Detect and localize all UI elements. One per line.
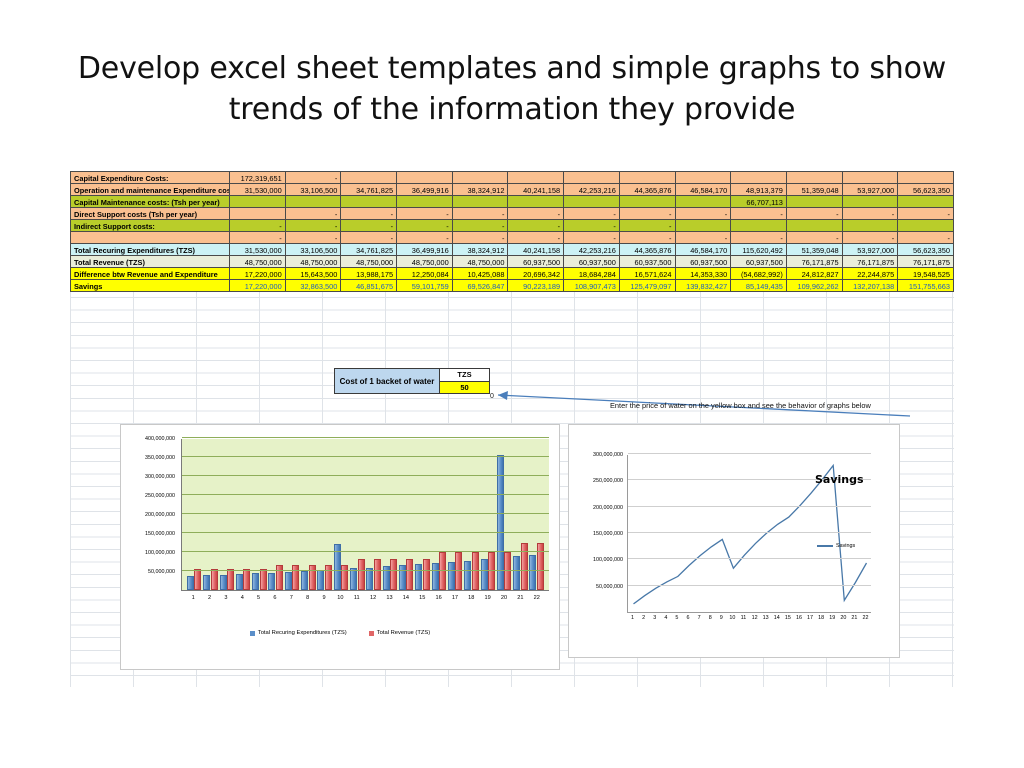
cost-of-water-box[interactable]: Cost of 1 backet of water TZS 50 [334,368,490,394]
legend-item[interactable]: Total Revenue (TZS) [369,630,430,636]
bar-expenditure[interactable] [513,556,520,590]
table-cell[interactable]: - [285,172,341,184]
table-row[interactable]: Total Recuring Expenditures (TZS)31,530,… [71,244,954,256]
row-label: Total Revenue (TZS) [71,256,230,268]
x-axis-tick-label: 14 [398,595,414,601]
bar-expenditure[interactable] [252,573,259,590]
row-label: Difference btw Revenue and Expenditure [71,268,230,280]
table-row[interactable]: Difference btw Revenue and Expenditure17… [71,268,954,280]
table-cell[interactable] [786,196,842,208]
table-cell[interactable] [564,172,620,184]
table-cell[interactable]: 48,750,000 [285,256,341,268]
gridline [182,551,549,552]
x-axis-tick-label: 12 [365,595,381,601]
table-cell[interactable]: - [564,208,620,220]
x-axis-tick-label: 1 [627,615,638,621]
table-cell[interactable]: 48,750,000 [452,256,508,268]
bar-group[interactable] [186,439,202,590]
table-cell[interactable]: 16,571,624 [619,268,675,280]
table-cell[interactable]: - [619,220,675,232]
bar-group[interactable] [447,439,463,590]
x-axis-tick-label: 7 [283,595,299,601]
table-cell[interactable]: 48,750,000 [230,256,286,268]
x-axis-tick-label: 5 [250,595,266,601]
bar-expenditure[interactable] [529,555,536,590]
table-cell[interactable] [397,172,453,184]
table-cell[interactable]: 42,253,216 [564,184,620,196]
legend-line-swatch [817,545,833,547]
bar-group[interactable] [398,439,414,590]
table-cell[interactable]: 53,927,000 [842,244,898,256]
x-axis-tick-label: 2 [638,615,649,621]
y-axis-tick-label: 350,000,000 [145,455,175,461]
table-cell[interactable]: 115,620,492 [731,244,787,256]
table-cell[interactable]: 60,937,500 [675,256,731,268]
x-axis-tick-label: 9 [316,595,332,601]
bar-group[interactable] [333,439,349,590]
x-axis-tick-label: 6 [267,595,283,601]
legend-label: Total Revenue (TZS) [377,630,430,636]
y-axis-tick-label: 200,000,000 [593,505,623,511]
savings-line-chart[interactable]: 50,000,000100,000,000150,000,000200,000,… [568,424,900,658]
table-cell[interactable] [619,172,675,184]
table-cell[interactable]: - [285,232,341,244]
table-cell[interactable]: 44,365,876 [619,184,675,196]
x-axis-tick-label: 21 [512,595,528,601]
bar-group[interactable] [317,439,333,590]
table-cell[interactable] [842,220,898,232]
table-cell[interactable]: 48,750,000 [341,256,397,268]
y-axis-tick-label: 150,000,000 [145,531,175,537]
bar-group[interactable] [496,439,512,590]
legend-label-savings: Savings [836,543,855,549]
bar-revenue[interactable] [227,569,234,590]
x-axis-tick-label: 7 [694,615,705,621]
x-axis-tick-label: 10 [332,595,348,601]
spreadsheet-canvas[interactable]: Capital Expenditure Costs:172,319,651-Op… [70,171,954,687]
x-axis-tick-label: 15 [414,595,430,601]
bar-expenditure[interactable] [187,576,194,590]
legend-swatch [250,631,255,636]
x-axis-tick-label: 4 [660,615,671,621]
x-axis-tick-label: 14 [771,615,782,621]
table-cell[interactable] [508,172,564,184]
table-cell[interactable]: - [397,220,453,232]
gridline [182,494,549,495]
table-cell[interactable]: 139,832,427 [675,280,731,292]
gridline [182,437,549,438]
table-cell[interactable] [397,196,453,208]
bar-group[interactable] [268,439,284,590]
table-row[interactable]: Direct Support costs (Tsh per year)-----… [71,208,954,220]
table-cell[interactable]: 60,937,500 [731,256,787,268]
x-axis-tick-label: 5 [671,615,682,621]
table-cell[interactable]: 48,750,000 [397,256,453,268]
table-cell[interactable] [675,220,731,232]
bar-revenue[interactable] [243,569,250,590]
bar-revenue[interactable] [309,565,316,590]
bar-chart-y-axis: 50,000,000100,000,000150,000,000200,000,… [121,433,177,593]
table-cell[interactable]: 18,684,284 [564,268,620,280]
table-cell[interactable]: - [508,220,564,232]
table-cell[interactable]: 56,623,350 [898,184,954,196]
bar-expenditure[interactable] [203,575,210,590]
bar-expenditure[interactable] [285,572,292,590]
bar-expenditure[interactable] [432,563,439,590]
x-axis-tick-label: 13 [381,595,397,601]
table-cell[interactable] [842,172,898,184]
x-axis-tick-label: 17 [447,595,463,601]
x-axis-tick-label: 1 [185,595,201,601]
table-row[interactable]: Operation and maintenance Expenditure co… [71,184,954,196]
table-row[interactable]: Savings17,220,00032,863,50046,851,67559,… [71,280,954,292]
x-axis-tick-label: 18 [816,615,827,621]
bar-expenditure[interactable] [301,571,308,590]
x-axis-tick-label: 19 [479,595,495,601]
table-cell[interactable]: - [731,232,787,244]
bar-group[interactable] [349,439,365,590]
table-cell[interactable]: 44,365,876 [619,244,675,256]
y-axis-tick-label: 300,000,000 [145,474,175,480]
table-cell[interactable] [842,196,898,208]
y-axis-tick-label: 250,000,000 [145,493,175,499]
x-axis-tick-label: 20 [496,595,512,601]
table-cell[interactable]: 33,106,500 [285,244,341,256]
table-cell[interactable]: 66,707,113 [731,196,787,208]
savings-annotation: Savings [815,473,864,486]
legend-swatch [369,631,374,636]
table-cell[interactable]: 76,171,875 [786,256,842,268]
bar-group[interactable] [431,439,447,590]
bar-expenditure[interactable] [448,562,455,590]
table-cell[interactable]: - [230,232,286,244]
table-row[interactable]: Indirect Support costs:-------- [71,220,954,232]
y-axis-tick-label: 400,000,000 [145,436,175,442]
x-axis-tick-label: 11 [349,595,365,601]
x-axis-tick-label: 4 [234,595,250,601]
table-cell[interactable] [564,196,620,208]
table-cell[interactable] [898,172,954,184]
bar-revenue[interactable] [537,543,544,590]
table-cell[interactable] [230,208,286,220]
table-cell[interactable] [786,220,842,232]
table-cell[interactable] [452,196,508,208]
currency-label: TZS [440,369,489,381]
bar-chart[interactable]: 50,000,000100,000,000150,000,000200,000,… [120,424,560,670]
cost-of-water-label: Cost of 1 backet of water [335,369,440,393]
bar-revenue[interactable] [341,565,348,590]
table-cell[interactable]: 34,761,825 [341,184,397,196]
x-axis-tick-label: 21 [849,615,860,621]
bar-revenue[interactable] [358,559,365,590]
gridline [628,532,871,533]
x-axis-tick-label: 9 [716,615,727,621]
bar-group[interactable] [414,439,430,590]
gridline [628,558,871,559]
bar-expenditure[interactable] [236,574,243,590]
bar-chart-plot-area [181,439,549,591]
table-cell[interactable] [898,196,954,208]
bar-chart-x-axis: 12345678910111213141516171819202122 [181,595,549,601]
x-axis-tick-label: 6 [682,615,693,621]
table-cell[interactable]: 12,250,084 [397,268,453,280]
bar-revenue[interactable] [194,569,201,590]
table-cell[interactable]: 32,863,500 [285,280,341,292]
bar-group[interactable] [480,439,496,590]
row-label: Operation and maintenance Expenditure co… [71,184,230,196]
x-axis-tick-label: 16 [430,595,446,601]
table-cell[interactable]: 109,962,262 [786,280,842,292]
table-cell[interactable]: 20,696,342 [508,268,564,280]
table-cell[interactable]: - [452,220,508,232]
bar-group[interactable] [463,439,479,590]
x-axis-tick-label: 22 [529,595,545,601]
x-axis-tick-label: 3 [218,595,234,601]
table-cell[interactable]: 40,241,158 [508,244,564,256]
table-cell[interactable]: 132,207,138 [842,280,898,292]
row-label: Capital Expenditure Costs: [71,172,230,184]
table-row[interactable]: ------------- [71,232,954,244]
table-cell[interactable]: - [508,232,564,244]
y-axis-tick-label: 50,000,000 [596,584,623,590]
table-cell[interactable]: 10,425,088 [452,268,508,280]
table-cell[interactable]: - [675,232,731,244]
x-axis-tick-label: 8 [705,615,716,621]
table-cell[interactable]: - [842,232,898,244]
bar-expenditure[interactable] [350,568,357,590]
x-axis-tick-label: 22 [860,615,871,621]
row-label: Indirect Support costs: [71,220,230,232]
table-cell[interactable]: 48,913,379 [731,184,787,196]
table-cell[interactable]: - [898,232,954,244]
y-axis-tick-label: 300,000,000 [593,452,623,458]
table-cell[interactable]: - [285,220,341,232]
table-cell[interactable]: - [452,232,508,244]
table-cell[interactable]: 15,643,500 [285,268,341,280]
row-label: Capital Maintenance costs: (Tsh per year… [71,196,230,208]
y-axis-tick-label: 150,000,000 [593,531,623,537]
y-axis-tick-label: 200,000,000 [145,512,175,518]
table-cell[interactable] [230,196,286,208]
line-chart-legend[interactable]: Savings [817,543,855,549]
bar-group[interactable] [300,439,316,590]
table-cell[interactable]: 17,220,000 [230,280,286,292]
table-cell[interactable] [619,196,675,208]
table-cell[interactable]: 40,241,158 [508,184,564,196]
legend-item[interactable]: Total Recuring Expenditures (TZS) [250,630,347,636]
table-cell[interactable] [508,196,564,208]
bar-revenue[interactable] [406,559,413,590]
table-cell[interactable]: 31,530,000 [230,184,286,196]
table-cell[interactable]: - [786,232,842,244]
table-cell[interactable]: - [285,208,341,220]
table-cell[interactable]: - [564,220,620,232]
table-cell[interactable]: 14,353,330 [675,268,731,280]
y-axis-tick-label: 250,000,000 [593,478,623,484]
gridline [628,506,871,507]
x-axis-tick-label: 16 [793,615,804,621]
x-axis-tick-label: 17 [805,615,816,621]
bar-group[interactable] [251,439,267,590]
table-cell[interactable]: 69,526,847 [452,280,508,292]
table-cell[interactable]: 60,937,500 [564,256,620,268]
table-cell[interactable]: - [397,232,453,244]
table-cell[interactable]: 53,927,000 [842,184,898,196]
bar-group[interactable] [365,439,381,590]
gridline [628,585,871,586]
table-cell[interactable]: (54,682,992) [731,268,787,280]
bar-group[interactable] [202,439,218,590]
table-cell[interactable]: 46,851,675 [341,280,397,292]
table-cell[interactable]: 33,106,500 [285,184,341,196]
table-cell[interactable]: 51,359,048 [786,184,842,196]
gridline [628,453,871,454]
row-label: Total Recuring Expenditures (TZS) [71,244,230,256]
table-cell[interactable]: - [786,208,842,220]
table-cell[interactable] [786,172,842,184]
bar-revenue[interactable] [390,559,397,590]
table-cell[interactable]: 38,324,912 [452,184,508,196]
table-row[interactable]: Capital Expenditure Costs:172,319,651- [71,172,954,184]
table-cell[interactable]: 13,988,175 [341,268,397,280]
x-axis-tick-label: 19 [827,615,838,621]
bar-group[interactable] [512,439,528,590]
bar-expenditure[interactable] [464,561,471,590]
table-cell[interactable]: 108,907,473 [564,280,620,292]
table-cell[interactable]: 76,171,875 [898,256,954,268]
table-cell[interactable]: - [731,208,787,220]
table-cell[interactable] [285,196,341,208]
table-cell[interactable]: 151,755,663 [898,280,954,292]
gridline [182,513,549,514]
table-cell[interactable]: 59,101,759 [397,280,453,292]
bar-chart-legend[interactable]: Total Recuring Expenditures (TZS)Total R… [121,630,559,636]
table-cell[interactable]: - [564,232,620,244]
table-cell[interactable]: 24,812,827 [786,268,842,280]
table-cell[interactable] [675,196,731,208]
bar-group[interactable] [235,439,251,590]
bar-revenue[interactable] [276,565,283,590]
table-cell[interactable]: - [341,220,397,232]
x-axis-tick-label: 20 [838,615,849,621]
bar-group[interactable] [529,439,545,590]
table-cell[interactable] [898,220,954,232]
table-cell[interactable]: - [341,208,397,220]
table-cell[interactable] [675,172,731,184]
page-title: Develop excel sheet templates and simple… [60,48,964,131]
table-cell[interactable]: 17,220,000 [230,268,286,280]
table-cell[interactable]: 42,253,216 [564,244,620,256]
table-cell[interactable]: - [452,208,508,220]
table-cell[interactable]: - [397,208,453,220]
bar-expenditure[interactable] [481,559,488,590]
gridline [182,456,549,457]
bar-expenditure[interactable] [268,573,275,590]
gridline [182,570,549,571]
line-chart-y-axis: 50,000,000100,000,000150,000,000200,000,… [569,455,623,613]
table-cell[interactable]: 19,548,525 [898,268,954,280]
table-cell[interactable] [731,220,787,232]
bar-expenditure[interactable] [415,564,422,590]
table-cell[interactable]: 60,937,500 [508,256,564,268]
legend-label: Total Recuring Expenditures (TZS) [258,630,347,636]
table-cell[interactable] [341,196,397,208]
table-cell[interactable]: 22,244,875 [842,268,898,280]
line-chart-x-axis: 12345678910111213141516171819202122 [627,615,871,621]
bar-revenue[interactable] [292,565,299,590]
table-cell[interactable]: 34,761,825 [341,244,397,256]
bar-group[interactable] [382,439,398,590]
table-cell[interactable]: 31,530,000 [230,244,286,256]
table-cell[interactable]: 38,324,912 [452,244,508,256]
table-cell[interactable] [452,172,508,184]
table-cell[interactable]: 36,499,916 [397,184,453,196]
y-axis-tick-label: 100,000,000 [593,557,623,563]
table-cell[interactable] [341,172,397,184]
table-cell[interactable]: 46,584,170 [675,184,731,196]
table-cell[interactable]: - [842,208,898,220]
x-axis-tick-label: 3 [649,615,660,621]
x-axis-tick-label: 10 [727,615,738,621]
table-cell[interactable]: - [675,208,731,220]
y-axis-tick-label: 50,000,000 [148,569,175,575]
table-cell[interactable]: 46,584,170 [675,244,731,256]
instruction-text: Enter the price of water on the yellow b… [610,401,871,410]
bar-expenditure[interactable] [317,570,324,590]
table-cell[interactable]: - [619,232,675,244]
table-cell[interactable]: 56,623,350 [898,244,954,256]
table-cell[interactable]: 76,171,875 [842,256,898,268]
x-axis-tick-label: 2 [201,595,217,601]
gridline [182,475,549,476]
gridline [182,532,549,533]
x-axis-tick-label: 18 [463,595,479,601]
table-cell[interactable]: - [898,208,954,220]
bar-group[interactable] [284,439,300,590]
table-cell[interactable]: - [341,232,397,244]
x-axis-tick-label: 15 [782,615,793,621]
table-row[interactable]: Capital Maintenance costs: (Tsh per year… [71,196,954,208]
table-cell[interactable]: 90,223,189 [508,280,564,292]
table-cell[interactable]: - [508,208,564,220]
table-cell[interactable]: 60,937,500 [619,256,675,268]
bar-revenue[interactable] [374,559,381,590]
table-cell[interactable]: - [230,220,286,232]
table-cell[interactable]: 51,359,048 [786,244,842,256]
table-cell[interactable]: 125,479,097 [619,280,675,292]
bar-revenue[interactable] [260,569,267,590]
x-axis-tick-label: 13 [760,615,771,621]
bar-expenditure[interactable] [220,575,227,590]
table-cell[interactable]: 85,149,435 [731,280,787,292]
row-label [71,232,230,244]
table-cell[interactable]: 36,499,916 [397,244,453,256]
financial-data-table[interactable]: Capital Expenditure Costs:172,319,651-Op… [70,171,954,292]
x-axis-tick-label: 12 [749,615,760,621]
table-row[interactable]: Total Revenue (TZS)48,750,00048,750,0004… [71,256,954,268]
row-label: Savings [71,280,230,292]
bar-revenue[interactable] [325,565,332,590]
table-cell[interactable]: 172,319,651 [230,172,286,184]
bar-revenue[interactable] [521,543,528,590]
bar-group[interactable] [219,439,235,590]
bar-revenue[interactable] [423,559,430,590]
table-cell[interactable] [731,172,787,184]
bar-revenue[interactable] [211,569,218,590]
table-cell[interactable]: - [619,208,675,220]
x-axis-tick-label: 11 [738,615,749,621]
row-label: Direct Support costs (Tsh per year) [71,208,230,220]
